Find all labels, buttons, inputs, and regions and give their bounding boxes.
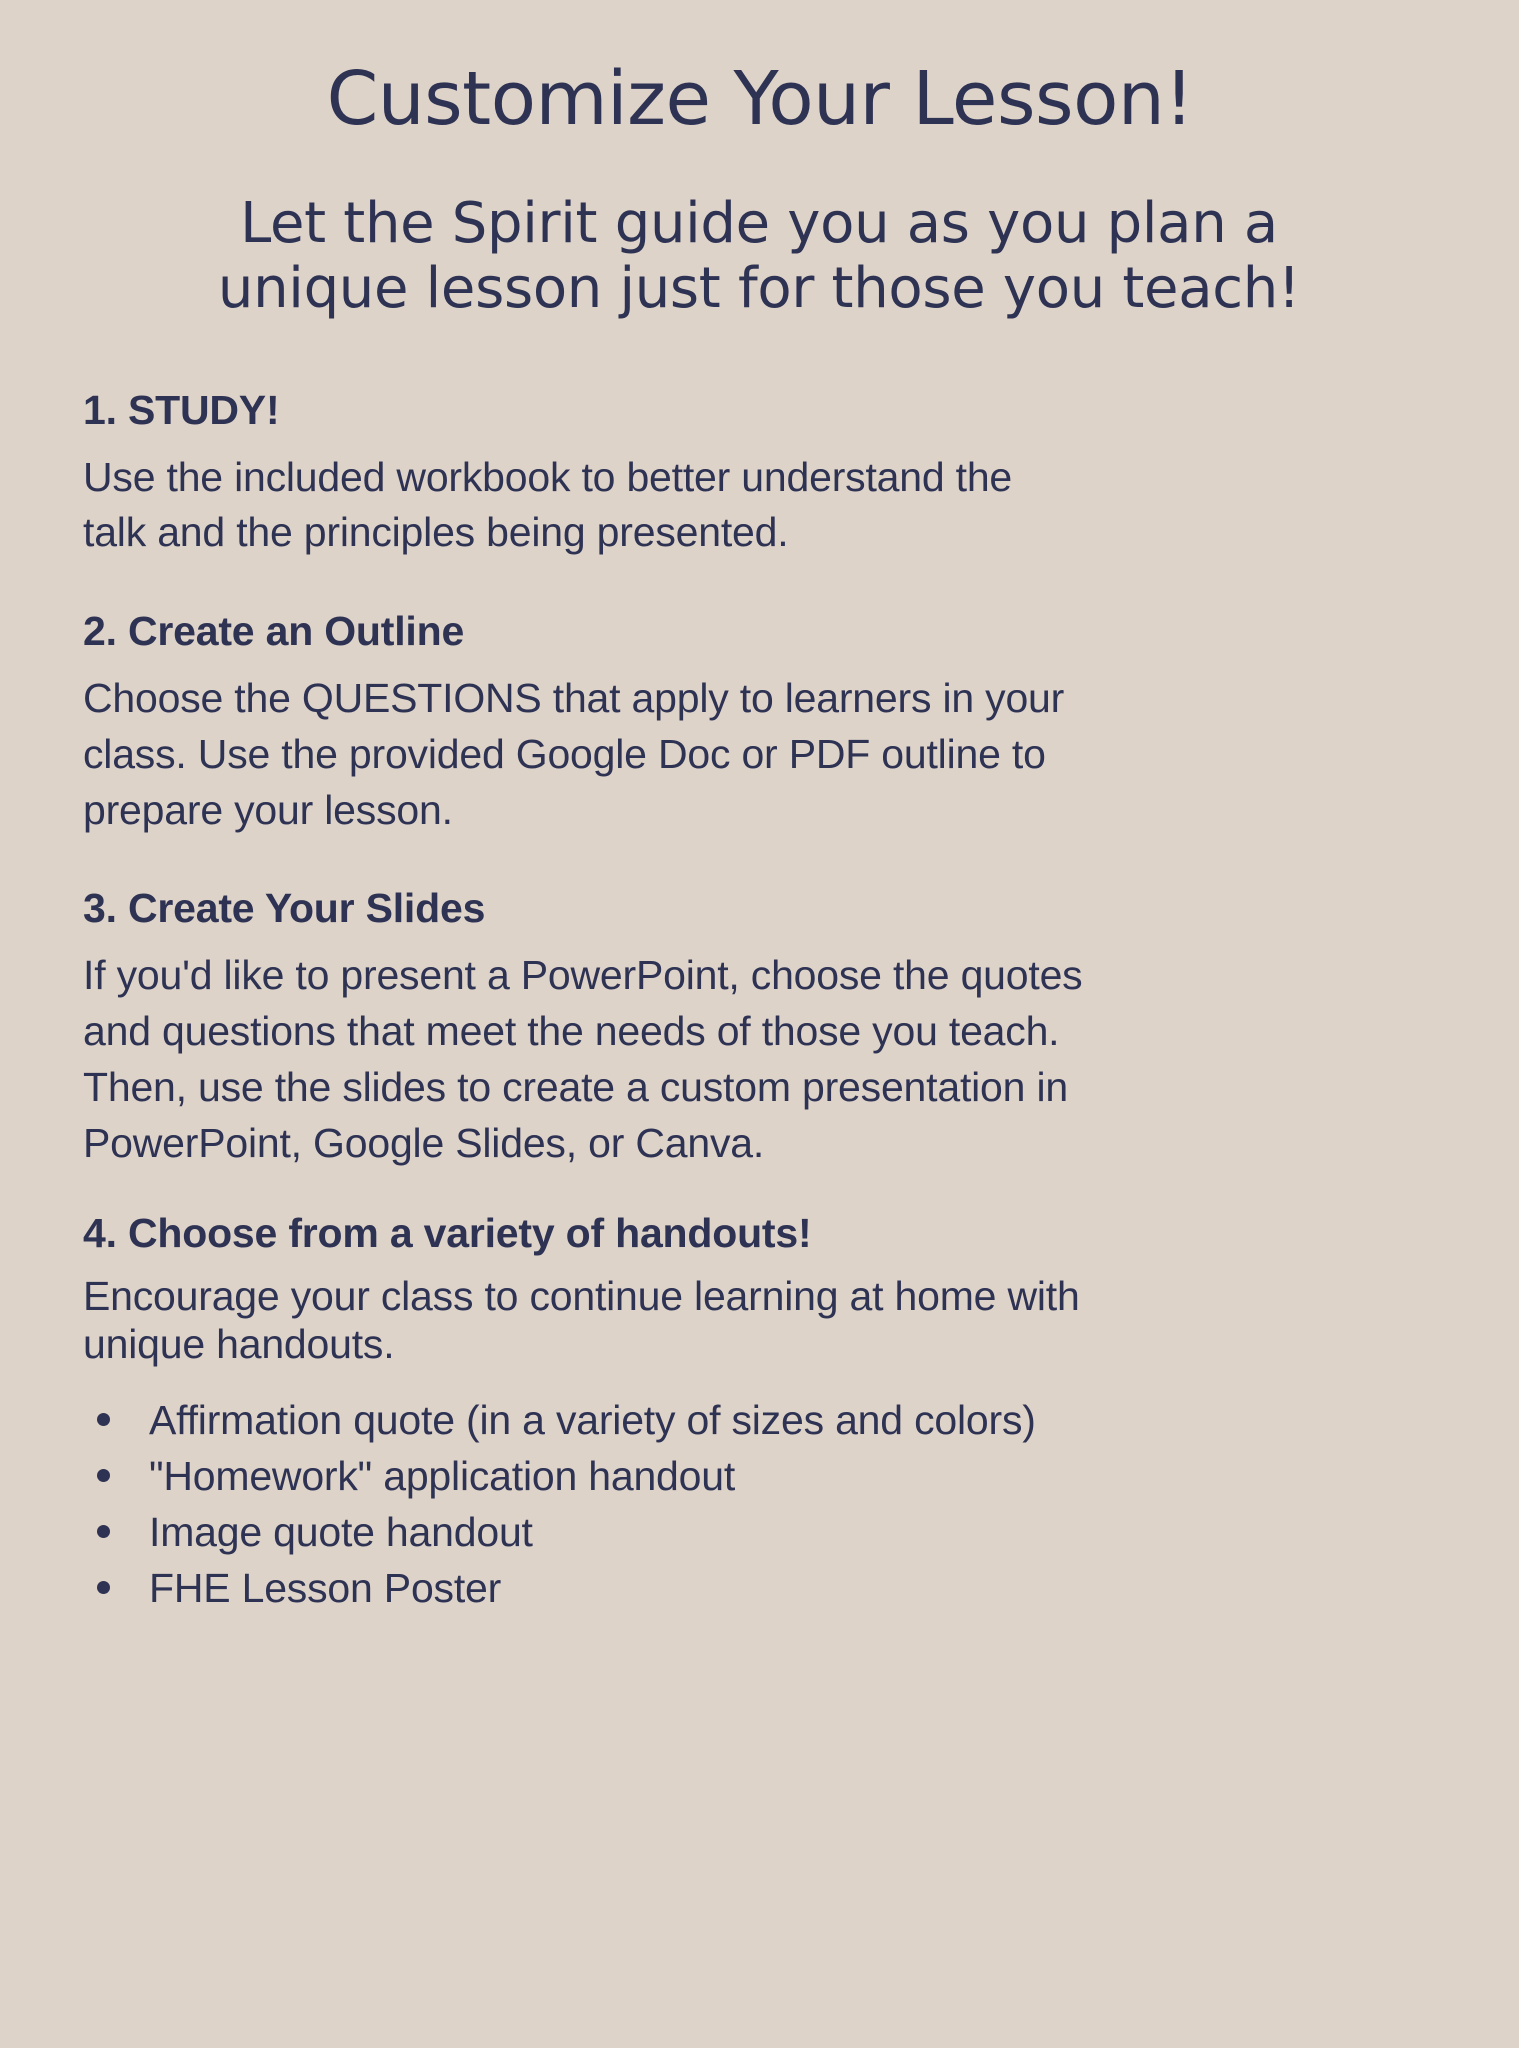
section-2-line-3: prepare your lesson. (83, 783, 1449, 839)
bullet-dot-icon (97, 1581, 110, 1594)
section-heading-4: 4. Choose from a variety of handouts! (83, 1211, 1449, 1257)
list-item: "Homework" application handout (97, 1451, 1449, 1501)
section-3-line-4: PowerPoint, Google Slides, or Canva. (83, 1116, 1449, 1172)
section-3-line-1: If you'd like to present a PowerPoint, c… (83, 948, 1449, 1004)
section-4-line-2: unique handouts. (83, 1321, 1449, 1369)
section-heading-3: 3. Create Your Slides (83, 886, 1449, 932)
section-choose-handouts: 4. Choose from a variety of handouts! En… (83, 1211, 1449, 1613)
section-create-outline: 2. Create an Outline Choose the QUESTION… (83, 609, 1449, 838)
subtitle-line-2: unique lesson just for those you teach! (103, 257, 1415, 322)
page-title: Customize Your Lesson! (83, 60, 1449, 140)
section-heading-2: 2. Create an Outline (83, 609, 1449, 655)
section-2-line-1: Choose the QUESTIONS that apply to learn… (83, 671, 1449, 727)
section-create-slides: 3. Create Your Slides If you'd like to p… (83, 886, 1449, 1171)
list-item: FHE Lesson Poster (97, 1563, 1449, 1613)
list-item: Affirmation quote (in a variety of sizes… (97, 1395, 1449, 1445)
section-3-line-3: Then, use the slides to create a custom … (83, 1060, 1449, 1116)
page-subtitle: Let the Spirit guide you as you plan a u… (103, 192, 1415, 322)
section-body-2: Choose the QUESTIONS that apply to learn… (83, 671, 1449, 838)
section-3-line-2: and questions that meet the needs of tho… (83, 1004, 1449, 1060)
bullet-dot-icon (97, 1413, 110, 1426)
section-body-1: Use the included workbook to better unde… (83, 450, 1449, 562)
section-body-4: Encourage your class to continue learnin… (83, 1273, 1449, 1369)
handout-bullet-1: Affirmation quote (in a variety of sizes… (149, 1397, 1036, 1443)
handout-bullet-3: Image quote handout (149, 1509, 533, 1555)
handout-bullet-4: FHE Lesson Poster (149, 1565, 501, 1611)
subtitle-line-1: Let the Spirit guide you as you plan a (103, 192, 1415, 257)
section-heading-1: 1. STUDY! (83, 388, 1449, 434)
section-4-line-1: Encourage your class to continue learnin… (83, 1273, 1449, 1321)
bullet-dot-icon (97, 1525, 110, 1538)
section-1-line-2: talk and the principles being presented. (83, 505, 1449, 561)
handout-bullet-list: Affirmation quote (in a variety of sizes… (83, 1395, 1449, 1613)
section-study: 1. STUDY! Use the included workbook to b… (83, 388, 1449, 561)
section-2-line-2: class. Use the provided Google Doc or PD… (83, 727, 1449, 783)
section-1-line-1: Use the included workbook to better unde… (83, 450, 1449, 506)
bullet-dot-icon (97, 1469, 110, 1482)
section-body-3: If you'd like to present a PowerPoint, c… (83, 948, 1449, 1171)
lesson-instructions-page: Customize Your Lesson! Let the Spirit gu… (0, 0, 1519, 2048)
list-item: Image quote handout (97, 1507, 1449, 1557)
handout-bullet-2: "Homework" application handout (149, 1453, 735, 1499)
